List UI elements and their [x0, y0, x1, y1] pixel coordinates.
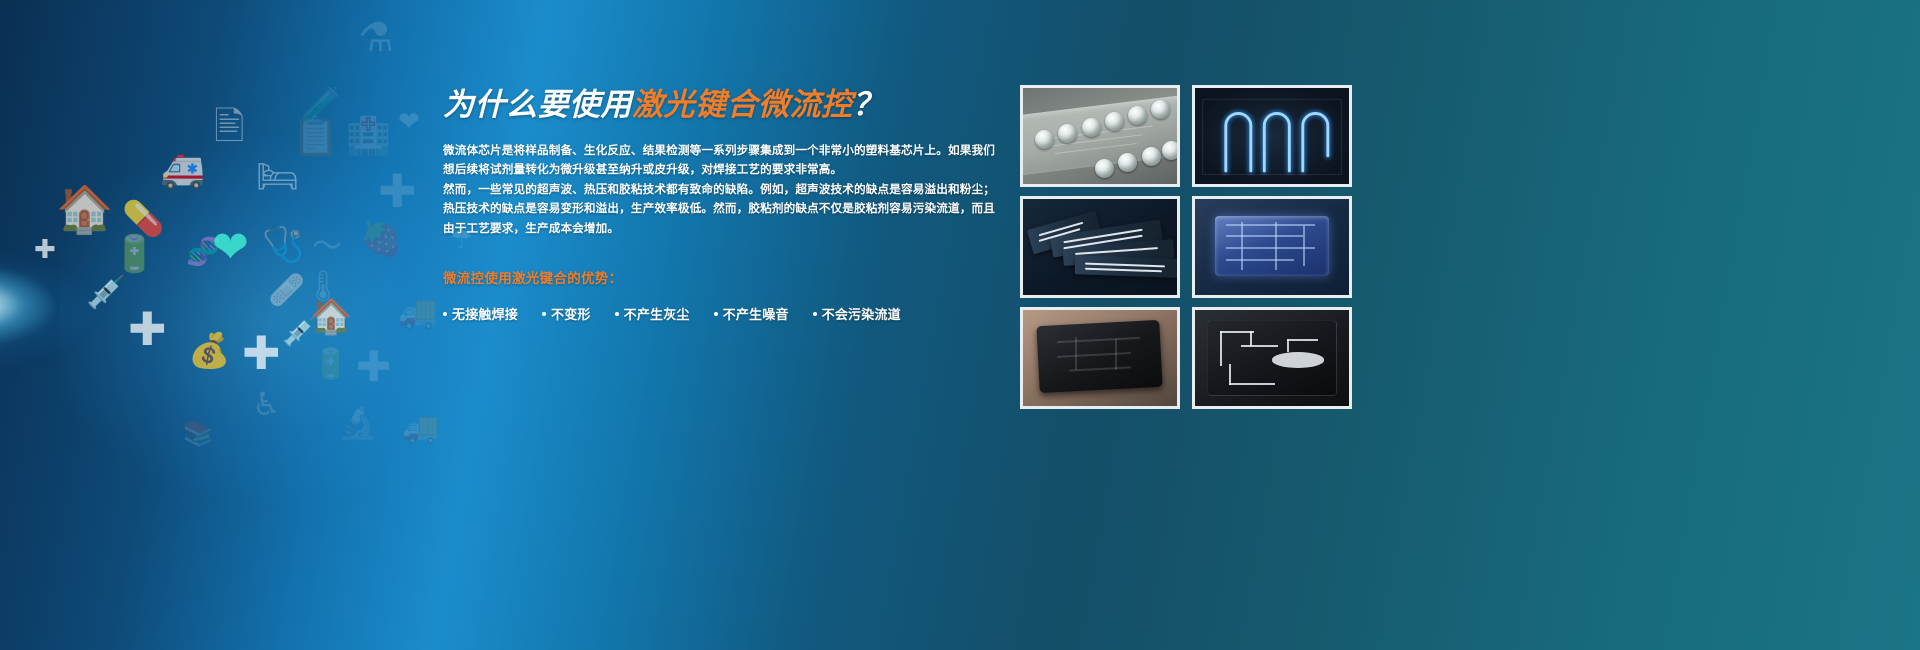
paragraph-line: 微流体芯片是将样品制备、生化反应、结果检测等一系列步骤集成到一个非常小的塑料基芯… [443, 141, 973, 161]
home-plus-icon: 🏠 [56, 186, 113, 232]
paragraph-line: 由于工艺要求，生产成本会增加。 [443, 219, 973, 239]
headline-prefix: 为什么要使用 [443, 87, 632, 122]
stethoscope-icon: 🩺 [262, 228, 304, 262]
paragraph-line: 想后续将试剂量转化为微升级甚至纳升或皮升级，对焊接工艺的要求非常高。 [443, 160, 973, 180]
home-plus-icon: 🏠 [310, 300, 352, 334]
battery-icon: 🔋 [112, 236, 157, 272]
page-title: 为什么要使用激光键合微流控？ [443, 86, 973, 125]
photo-thumbnail[interactable] [1020, 196, 1180, 298]
thermometer-icon: 🌡 [304, 272, 342, 302]
flask-icon: ⚗ [358, 18, 394, 58]
cross-icon: ✚ [356, 346, 391, 388]
bullet-dot-icon [813, 312, 817, 316]
books-icon: 📚 [182, 420, 214, 446]
translucent-blue-moulded-microfluidic-part-image [1195, 199, 1349, 295]
list-item: 不变形 [542, 304, 591, 323]
truck-icon: 🚚 [402, 414, 439, 444]
ambulance-icon: 🚑 [160, 152, 205, 188]
battery-icon: 🔋 [312, 350, 349, 380]
list-item: 不会污染流道 [813, 304, 901, 323]
advantages-subheading: 微流控使用激光键合的优势： [443, 267, 973, 287]
fanned-microfluidic-test-strips-image [1023, 199, 1177, 295]
pill-icon: 💊 [122, 202, 164, 236]
list-item: 不产生灰尘 [615, 304, 690, 323]
promo-banner: ⚗ 🧪 ❤ 🖹 📋 🏥 🚑 🛏 ✚ 🏠 💊 🔋 🧬 ❤ 🩺 〜 🍓 ✚ 💉 🩹 … [0, 0, 1920, 650]
body-paragraph: 微流体芯片是将样品制备、生化反应、结果检测等一系列步骤集成到一个非常小的塑料基芯… [443, 141, 973, 239]
heartbeat-icon: ❤ [212, 226, 249, 270]
black-cartridge-with-fluidic-pattern-image [1195, 310, 1349, 406]
photo-thumbnail[interactable] [1192, 307, 1352, 409]
cross-icon: ✚ [34, 236, 56, 262]
bullet-dot-icon [542, 312, 546, 316]
photo-thumbnail[interactable] [1020, 85, 1180, 187]
bullet-dot-icon [615, 312, 619, 316]
bandage-icon: 🩹 [268, 276, 305, 306]
photo-thumbnail[interactable] [1020, 307, 1180, 409]
black-microfluidic-chip-held-in-hand-image [1023, 310, 1177, 406]
cross-icon: ✚ [378, 168, 417, 214]
kidney-icon: 🍓 [360, 222, 402, 256]
microscope-icon: 🔬 [338, 406, 378, 438]
photo-thumbnail[interactable] [1192, 196, 1352, 298]
copy-block: 为什么要使用激光键合微流控？ 微流体芯片是将样品制备、生化反应、结果检测等一系列… [443, 86, 973, 323]
paragraph-line: 然而，一些常见的超声波、热压和胶粘技术都有致命的缺陷。例如，超声波技术的缺点是容… [443, 180, 973, 200]
list-item-label: 无接触焊接 [452, 304, 518, 323]
headline-suffix: ？ [853, 87, 885, 122]
list-item: 不产生噪音 [714, 304, 789, 323]
clipboard-icon: 📋 [292, 118, 339, 156]
syringe-icon: 💉 [86, 276, 126, 308]
advantages-list: 无接触焊接 不变形 不产生灰尘 不产生噪音 不会污染流道 [443, 304, 973, 323]
heart-pulse-icon: ❤ [398, 108, 420, 134]
product-photo-grid [1020, 85, 1352, 409]
list-item-label: 不产生噪音 [723, 304, 789, 323]
paragraph-line: 热压技术的缺点是容易变形和溢出，生产效率极低。然而，胶粘剂的缺点不仅是胶粘剂容易… [443, 199, 973, 219]
light-beam-glow [0, 150, 400, 470]
dna-icon: 🧬 [186, 238, 221, 266]
hospital-building-icon: 🏥 [346, 118, 391, 154]
hospital-bed-icon: 🛏 [256, 160, 299, 194]
cross-icon: ✚ [128, 306, 167, 352]
cross-icon: ✚ [242, 330, 281, 376]
test-tube-icon: 🧪 [300, 88, 342, 122]
syringe-icon: 💉 [282, 318, 317, 346]
first-aid-kit-icon: 💰 [188, 334, 230, 368]
list-item-label: 不变形 [551, 304, 591, 323]
wheelchair-icon: ♿ [252, 388, 281, 420]
id-card-icon: 🖹 [214, 108, 245, 146]
photo-thumbnail[interactable] [1192, 85, 1352, 187]
headline-highlight: 激光键合微流控 [632, 87, 853, 122]
pulse-line-icon: 〜 [312, 232, 342, 262]
list-item: 无接触焊接 [443, 304, 518, 323]
microfluidic-chip-with-round-wells-image [1023, 88, 1177, 184]
truck-icon: 🚚 [398, 296, 438, 328]
light-beam-core [0, 230, 190, 380]
list-item-label: 不会污染流道 [822, 304, 901, 323]
microfluidic-chip-glowing-serpentine-channel-image [1195, 88, 1349, 184]
bullet-dot-icon [443, 312, 447, 316]
serpentine-channel-graphic [1195, 88, 1349, 184]
bullet-dot-icon [714, 312, 718, 316]
list-item-label: 不产生灰尘 [624, 304, 690, 323]
